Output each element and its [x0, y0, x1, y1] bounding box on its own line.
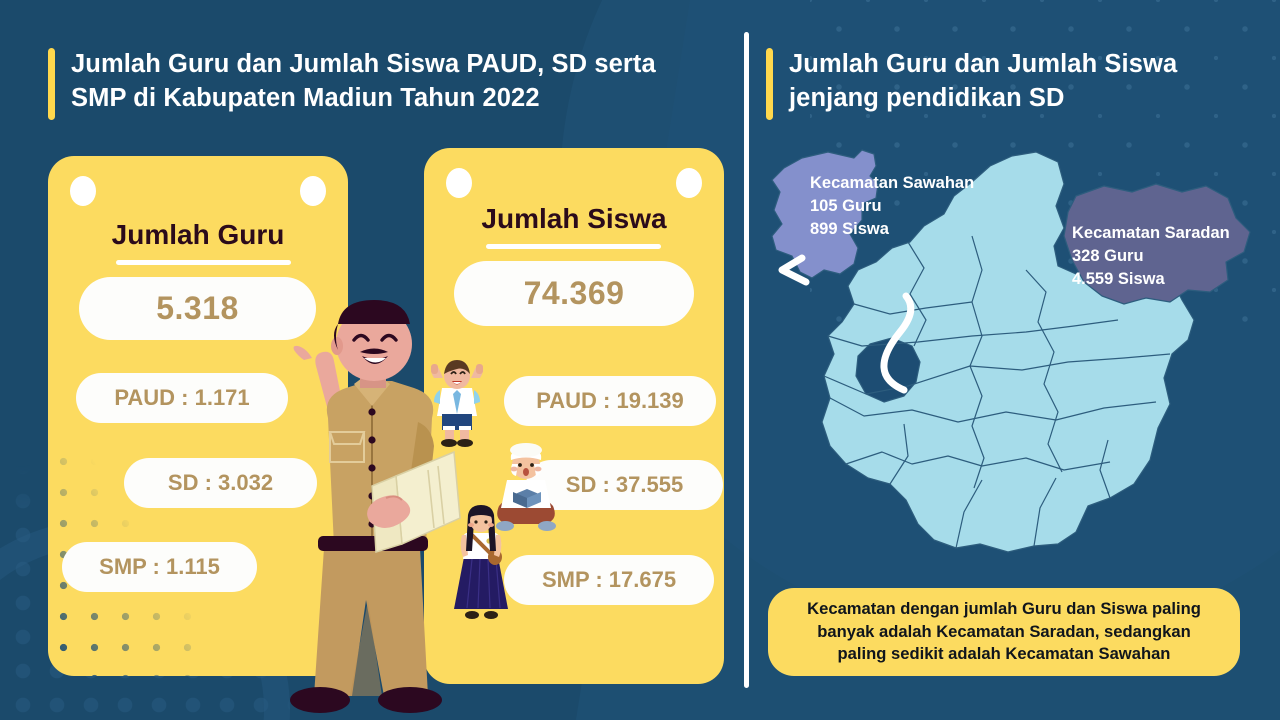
- map-label-kecamatan-saradan: Kecamatan Saradan 328 Guru 4.559 Siswa: [1072, 222, 1230, 290]
- card-heading: Jumlah Siswa: [424, 203, 724, 235]
- card-punch-hole-left: [70, 176, 96, 206]
- card-heading-underline: [116, 260, 291, 265]
- student-boy-illustration: [424, 358, 490, 448]
- card-total-value: 74.369: [454, 261, 694, 326]
- card-heading: Jumlah Guru: [48, 219, 348, 251]
- right-panel-title-text: Jumlah Guru dan Jumlah Siswa jenjang pen…: [789, 48, 1177, 116]
- title-accent-bar: [48, 48, 55, 120]
- title-accent-bar: [766, 48, 773, 120]
- card-heading-underline: [486, 244, 661, 249]
- panel-divider: [744, 32, 749, 688]
- student-girl-illustration: [450, 505, 512, 623]
- card-punch-hole-right: [676, 168, 702, 198]
- card-punch-hole-left: [446, 168, 472, 198]
- conclusion-callout: Kecamatan dengan jumlah Guru dan Siswa p…: [768, 588, 1240, 676]
- card-breakdown-smp: SMP : 1.115: [62, 542, 257, 592]
- left-panel-title: Jumlah Guru dan Jumlah Siswa PAUD, SD se…: [48, 48, 718, 120]
- map-label-kecamatan-sawahan: Kecamatan Sawahan 105 Guru 899 Siswa: [810, 172, 974, 240]
- card-breakdown-paud: PAUD : 19.139: [504, 376, 716, 426]
- right-panel-title: Jumlah Guru dan Jumlah Siswa jenjang pen…: [766, 48, 1236, 120]
- left-panel-title-text: Jumlah Guru dan Jumlah Siswa PAUD, SD se…: [71, 48, 656, 116]
- card-breakdown-paud: PAUD : 1.171: [76, 373, 288, 423]
- card-breakdown-smp: SMP : 17.675: [504, 555, 714, 605]
- card-punch-hole-right: [300, 176, 326, 206]
